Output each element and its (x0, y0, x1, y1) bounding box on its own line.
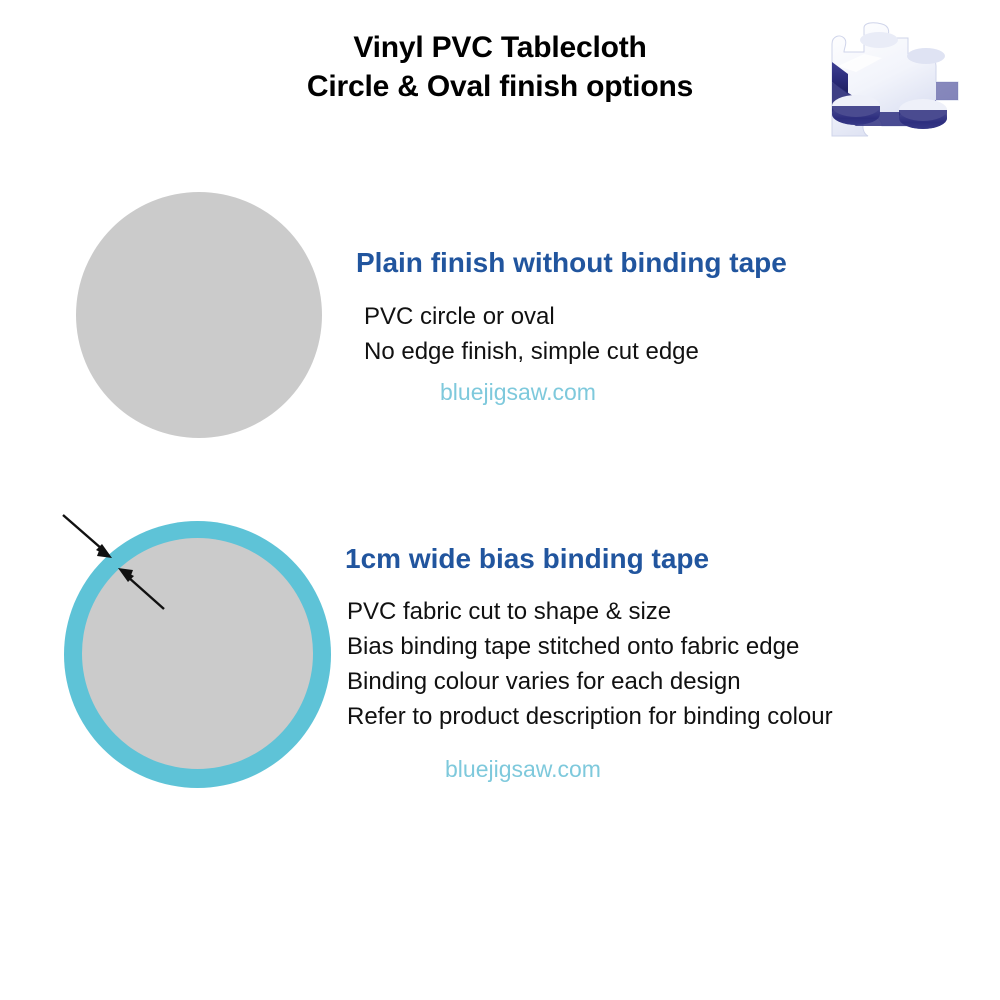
site-link-plain[interactable]: bluejigsaw.com (356, 377, 787, 407)
site-link-bound[interactable]: bluejigsaw.com (345, 754, 833, 784)
list-item: No edge finish, simple cut edge (364, 334, 787, 369)
list-item: Bias binding tape stitched onto fabric e… (347, 629, 833, 664)
plain-pvc-circle (76, 192, 322, 438)
section-plain-finish: Plain finish without binding tape PVC ci… (356, 246, 787, 407)
arrow-pointing-to-fabric-edge (118, 568, 164, 609)
list-item: PVC fabric cut to shape & size (347, 594, 833, 629)
list-item: Refer to product description for binding… (347, 699, 833, 734)
section-plain-bullets: PVC circle or oval No edge finish, simpl… (356, 299, 787, 369)
section-bound-bullets: PVC fabric cut to shape & size Bias bind… (345, 594, 833, 734)
arrow-pointing-to-binding-tape (63, 515, 112, 558)
bluejigsaw-puzzle-piece-logo (786, 22, 986, 140)
diagram-page: Vinyl PVC Tablecloth Circle & Oval finis… (0, 0, 1000, 1000)
list-item: Binding colour varies for each design (347, 664, 833, 699)
annotation-arrows (40, 495, 240, 645)
section-bound-heading: 1cm wide bias binding tape (345, 542, 833, 576)
list-item: PVC circle or oval (364, 299, 787, 334)
section-plain-heading: Plain finish without binding tape (356, 246, 787, 280)
section-bias-binding: 1cm wide bias binding tape PVC fabric cu… (345, 542, 833, 784)
